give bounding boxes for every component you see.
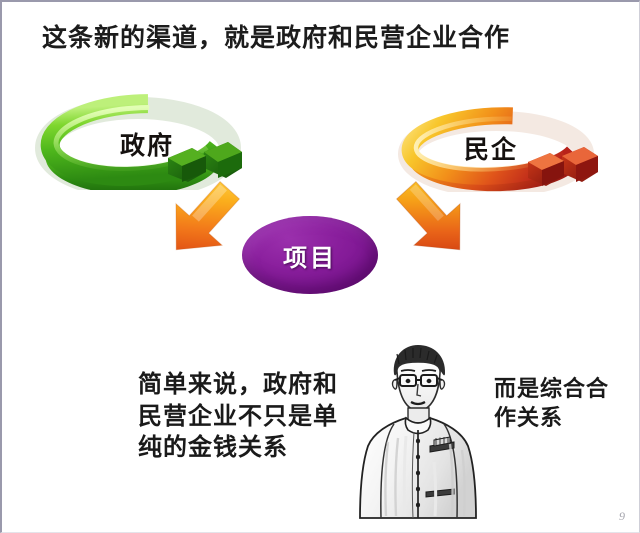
- ring-label-private-enterprise: 民企: [464, 130, 518, 166]
- caption-left: 简单来说，政府和民营企业不只是单纯的金钱关系: [138, 370, 352, 465]
- arrow-down-right-icon: [154, 174, 252, 266]
- page-title: 这条新的渠道，就是政府和民营企业合作: [42, 18, 510, 54]
- slide-canvas: 这条新的渠道，就是政府和民营企业合作: [0, 0, 640, 533]
- caption-right: 而是综合合作关系: [494, 374, 618, 432]
- ring-label-government: 政府: [120, 126, 174, 162]
- center-node-label: 项目: [242, 216, 378, 294]
- center-node-project: 项目: [242, 216, 378, 294]
- man-with-glasses-sketch-icon: [354, 342, 482, 520]
- page-number: 9: [619, 509, 625, 524]
- arrow-down-left-icon: [384, 174, 482, 266]
